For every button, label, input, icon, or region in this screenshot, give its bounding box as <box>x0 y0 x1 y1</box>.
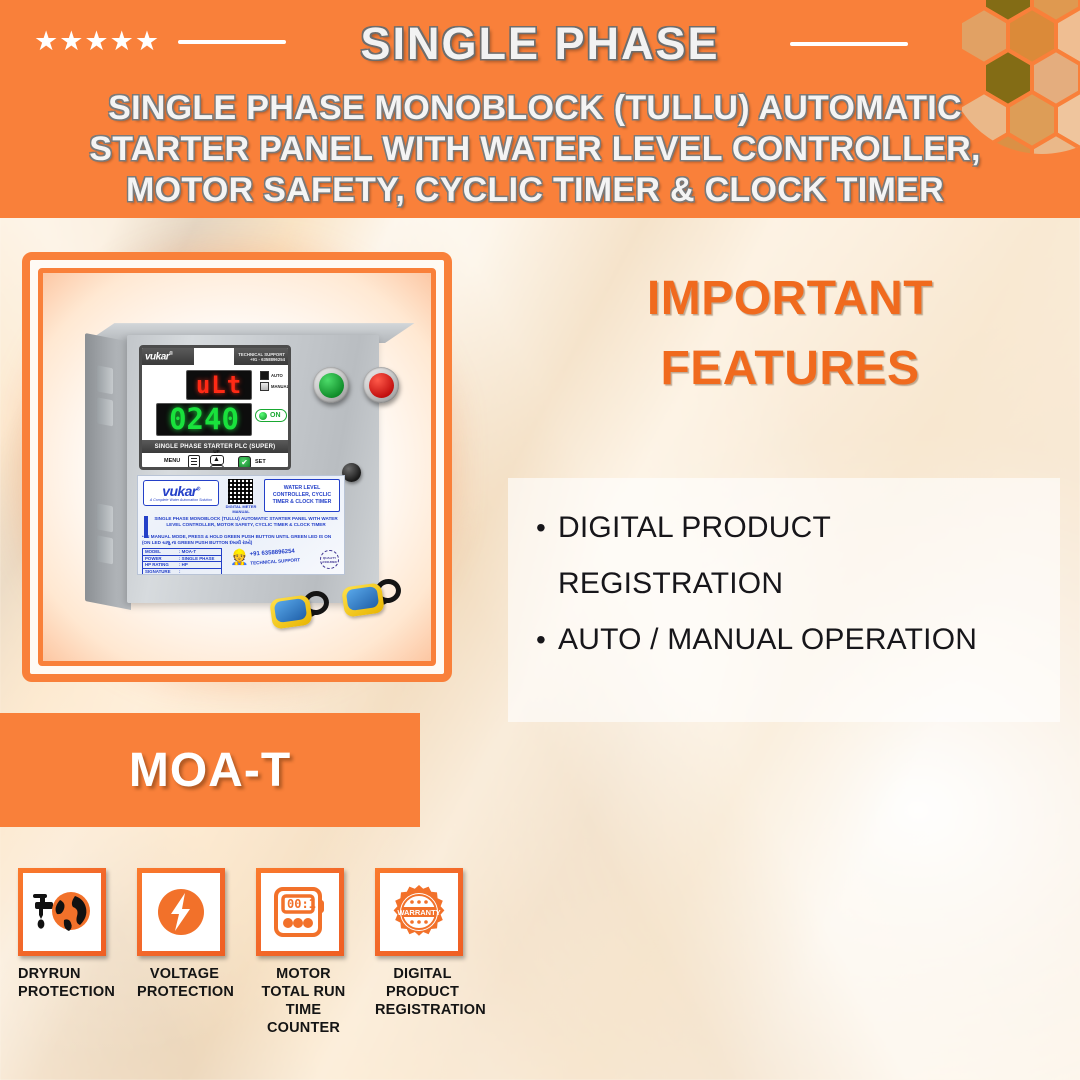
header-kicker: SINGLE PHASE <box>0 18 1080 70</box>
feature-text: AUTO / MANUAL OPERATION <box>558 612 977 668</box>
model-label: MOA-T <box>129 743 291 798</box>
sticker-spec-table: MODEL: MOA-T POWER: SINGLE PHASE HP RATI… <box>142 548 222 575</box>
hinge-upper <box>97 397 113 426</box>
tap-globe-icon <box>28 878 96 946</box>
icon-frame-inner <box>23 873 101 951</box>
table-row: SIGNATURE: <box>143 569 221 576</box>
features-list: • DIGITAL PRODUCT REGISTRATION • AUTO / … <box>536 500 1036 668</box>
icon-frame: 00:1 <box>256 868 344 956</box>
on-led-icon <box>259 412 267 420</box>
plc-value-display: 0240 <box>156 403 252 436</box>
list-item: • AUTO / MANUAL OPERATION <box>536 612 1036 668</box>
feature-icon-registration: WARRANTY DIGITAL PRODUCT REGISTRATION <box>375 868 470 1037</box>
bullet-icon: • <box>536 500 546 556</box>
plc-mode-display: uLt <box>186 370 252 400</box>
qr-code-label: DIGITAL METER MANUAL <box>224 505 258 514</box>
product-image-frame: vukar® TECHNICAL SUPPORT +91 - 635889625… <box>22 252 452 682</box>
feature-icon-row: DRYRUN PROTECTION VOLTAGE PROTECTION <box>18 868 518 1037</box>
auto-switch-icon <box>260 371 269 380</box>
svg-text:WARRANTY: WARRANTY <box>397 908 440 917</box>
manual-label: MANUAL <box>271 384 289 389</box>
product-frame-inner: vukar® TECHNICAL SUPPORT +91 - 635889625… <box>38 268 436 666</box>
hinge-bottom <box>97 535 113 564</box>
icon-caption: DIGITAL PRODUCT REGISTRATION <box>375 965 470 1019</box>
feature-icon-runtime: 00:1 MOTOR TOTAL RUN TIME COUNTER <box>256 868 351 1037</box>
menu-button[interactable] <box>188 455 200 468</box>
feature-icon-dryrun: DRYRUN PROTECTION <box>18 868 113 1037</box>
green-button-cap-icon <box>319 373 344 398</box>
icon-caption: VOLTAGE PROTECTION <box>137 965 232 1001</box>
features-heading-line2: FEATURES <box>508 334 1072 404</box>
green-push-button[interactable] <box>313 367 349 403</box>
sticker-description: SINGLE PHASE MONOBLOCK (TULLU) AUTOMATIC… <box>152 516 340 528</box>
red-button-cap-icon <box>369 373 394 398</box>
sticker-brand: vukar® <box>162 484 199 498</box>
up-down-keys[interactable]: UP ▲ ▼ DOWN <box>208 449 225 470</box>
svg-text:00:1: 00:1 <box>287 897 316 911</box>
down-arrow-icon[interactable]: ▼ <box>210 465 224 470</box>
product-frame-outer: vukar® TECHNICAL SUPPORT +91 - 635889625… <box>22 252 452 682</box>
product-sticker-label: vukar® A Complete Water Automation Solut… <box>137 475 345 575</box>
qr-code-icon <box>228 479 253 504</box>
bullet-icon: • <box>536 612 546 668</box>
feature-icon-voltage: VOLTAGE PROTECTION <box>137 868 232 1037</box>
icon-frame-inner <box>142 873 220 951</box>
hinge-top <box>97 365 113 394</box>
model-banner: MOA-T <box>0 713 420 827</box>
warranty-badge-icon: WARRANTY <box>385 878 453 946</box>
manual-switch-icon <box>260 382 269 391</box>
icon-frame <box>18 868 106 956</box>
float-switch-left <box>271 591 331 629</box>
quality-seal-icon: QUALITY ASSURED <box>320 550 339 569</box>
header-banner: ★★★★★ SINGLE PHASE SINGLE PHASE MONOBLOC… <box>0 0 1080 218</box>
hinge-lower <box>97 503 113 532</box>
icon-frame-inner: WARRANTY <box>380 873 458 951</box>
sticker-phone: +91 6358896254 TECHNICAL SUPPORT <box>250 548 301 567</box>
plc-faceplate: vukar® TECHNICAL SUPPORT +91 - 635889625… <box>139 345 291 470</box>
box-left-side <box>85 333 131 610</box>
sticker-tagline: A Complete Water Automation Solution <box>150 498 212 502</box>
on-status-badge: ON <box>255 409 287 422</box>
set-button[interactable]: ✔ <box>238 456 251 469</box>
plc-header-white-block <box>194 348 234 365</box>
plc-keypad: MENU UP ▲ ▼ DOWN ✔ SET <box>142 453 288 470</box>
features-heading-line1: IMPORTANT <box>508 264 1072 334</box>
auto-label: AUTO <box>271 373 283 378</box>
icon-frame: WARRANTY <box>375 868 463 956</box>
list-item: • DIGITAL PRODUCT REGISTRATION <box>536 500 1036 612</box>
red-push-button[interactable] <box>363 367 399 403</box>
box-front-face: vukar® TECHNICAL SUPPORT +91 - 635889625… <box>127 335 379 603</box>
auto-manual-selector[interactable]: AUTO MANUAL <box>260 371 290 393</box>
features-panel: • DIGITAL PRODUCT REGISTRATION • AUTO / … <box>508 478 1060 722</box>
menu-key-label: MENU <box>164 458 180 464</box>
lightning-bolt-icon <box>147 878 215 946</box>
plc-support-text: TECHNICAL SUPPORT +91 - 6358896254 <box>238 352 285 362</box>
icon-frame-inner: 00:1 <box>261 873 339 951</box>
up-arrow-icon[interactable]: ▲ <box>210 455 224 465</box>
up-key-label: UP <box>208 449 225 454</box>
sticker-note: • IN MANUAL MODE, PRESS & HOLD GREEN PUS… <box>142 534 340 546</box>
plc-brand-logo: vukar® <box>145 351 172 362</box>
icon-caption: MOTOR TOTAL RUN TIME COUNTER <box>256 965 351 1037</box>
support-person-icon: 👷 <box>230 550 249 565</box>
icon-frame <box>137 868 225 956</box>
sticker-logo: vukar® A Complete Water Automation Solut… <box>143 480 219 506</box>
icon-caption: DRYRUN PROTECTION <box>18 965 113 1001</box>
float-switch-right <box>343 579 403 617</box>
set-key-label: SET <box>255 459 266 465</box>
sticker-feature-box: WATER LEVEL CONTROLLER, CYCLIC TIMER & C… <box>264 479 340 512</box>
header-subtitle: SINGLE PHASE MONOBLOCK (TULLU) AUTOMATIC… <box>30 88 1040 211</box>
feature-text: DIGITAL PRODUCT REGISTRATION <box>558 500 1036 612</box>
auto-mode-row[interactable]: AUTO <box>260 371 290 380</box>
control-panel-box: vukar® TECHNICAL SUPPORT +91 - 635889625… <box>85 311 385 611</box>
features-heading: IMPORTANT FEATURES <box>508 264 1072 404</box>
run-time-counter-icon: 00:1 <box>266 878 334 946</box>
manual-mode-row[interactable]: MANUAL <box>260 382 290 391</box>
on-label: ON <box>270 412 281 419</box>
